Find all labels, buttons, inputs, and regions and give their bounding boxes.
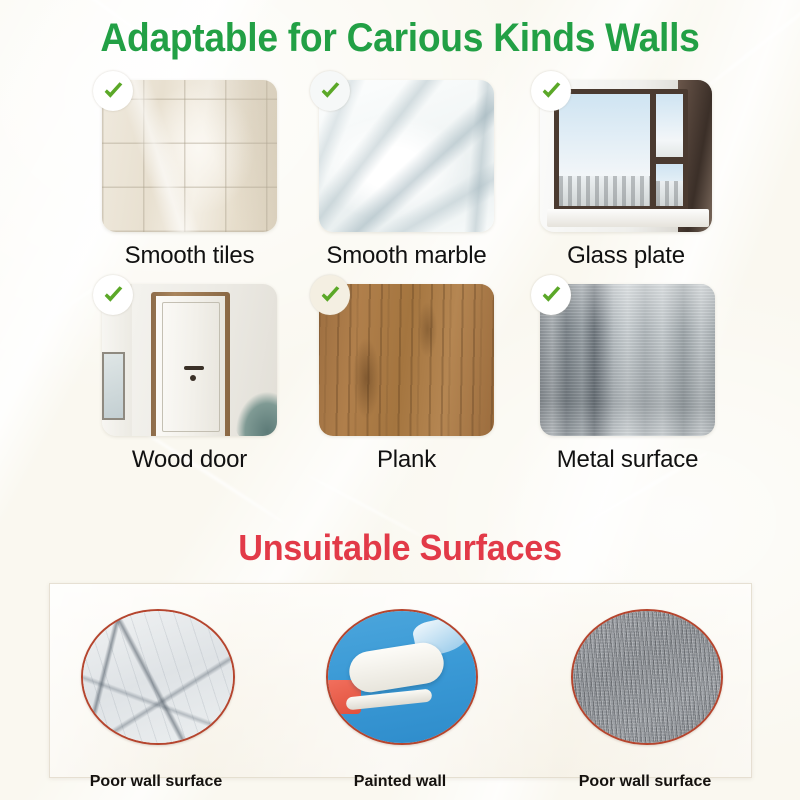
- unsuitable-thumbnail: [81, 609, 235, 745]
- city-skyline: [559, 176, 650, 206]
- city-skyline: [656, 181, 683, 206]
- window-pane-upper: [656, 94, 683, 157]
- window-frame: [554, 89, 688, 211]
- check-badge-icon: [531, 71, 571, 111]
- page-title-unsuitable: Unsuitable Surfaces: [20, 527, 780, 569]
- window-pane-lower: [656, 164, 683, 205]
- unsuitable-card-poor-wall-2[interactable]: Poor wall surface: [571, 609, 719, 741]
- unsuitable-label: Poor wall surface: [571, 773, 719, 791]
- page-title-suitable: Adaptable for Carious Kinds Walls: [28, 16, 772, 61]
- surface-card-wood-door[interactable]: Wood door: [102, 284, 277, 436]
- door-handle-icon: [184, 366, 204, 370]
- painted-wall-texture: [328, 611, 476, 743]
- window-sill: [547, 209, 709, 227]
- paint-roller-icon: [346, 639, 446, 694]
- check-badge-icon: [93, 275, 133, 315]
- suitable-surface-grid: Smooth tiles Smooth marble: [88, 72, 752, 482]
- unsuitable-label: Painted wall: [326, 773, 474, 791]
- surface-card-metal-surface[interactable]: Metal surface: [540, 284, 715, 436]
- surface-label: Wood door: [102, 446, 277, 474]
- surface-card-plank[interactable]: Plank: [319, 284, 494, 436]
- check-badge-icon: [310, 71, 350, 111]
- unsuitable-thumbnail: [571, 609, 723, 745]
- surface-label: Metal surface: [540, 446, 715, 474]
- unsuitable-card-poor-wall-1[interactable]: Poor wall surface: [81, 609, 231, 741]
- surface-card-smooth-tiles[interactable]: Smooth tiles: [102, 80, 277, 232]
- check-badge-icon: [93, 71, 133, 111]
- unsuitable-label: Poor wall surface: [81, 773, 231, 791]
- unsuitable-thumbnail: [326, 609, 478, 745]
- door-lock-icon: [190, 375, 196, 381]
- infographic-page: Adaptable for Carious Kinds Walls Smooth…: [0, 0, 800, 800]
- surface-label: Smooth marble: [319, 242, 494, 270]
- surface-label: Smooth tiles: [102, 242, 277, 270]
- window-pane-large: [559, 94, 650, 206]
- surface-card-smooth-marble[interactable]: Smooth marble: [319, 80, 494, 232]
- check-badge-icon: [310, 275, 350, 315]
- unsuitable-surface-panel: Poor wall surface Painted wall Poor wall…: [49, 583, 752, 778]
- rough-wall-texture: [573, 611, 721, 743]
- wall-picture-frame: [102, 352, 125, 420]
- surface-label: Glass plate: [540, 242, 712, 270]
- surface-label: Plank: [319, 446, 494, 474]
- plant-decoration: [235, 390, 277, 436]
- surface-card-glass-plate[interactable]: Glass plate: [540, 80, 712, 232]
- cracked-wall-texture: [83, 611, 233, 743]
- unsuitable-card-painted-wall[interactable]: Painted wall: [326, 609, 474, 741]
- check-badge-icon: [531, 275, 571, 315]
